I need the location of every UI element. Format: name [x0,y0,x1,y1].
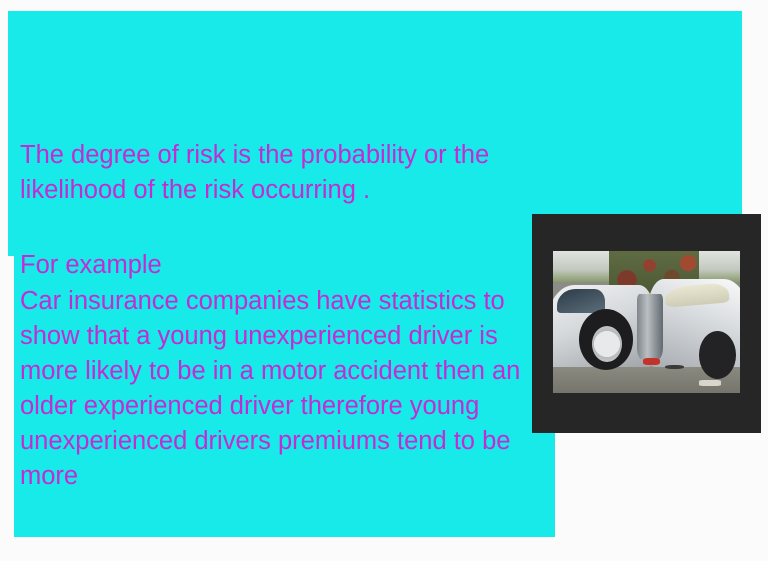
photo-wheel-right [699,331,736,379]
photo-debris-light [699,380,721,386]
example-paragraph: Car insurance companies have statistics … [20,284,545,494]
intro-paragraph: The degree of risk is the probability or… [20,138,540,208]
photo-debris-red [643,358,660,365]
slide-canvas: Risk The degree of risk is the probabili… [0,0,768,561]
photo-debris-dark [665,365,684,369]
example-heading: For example [20,248,540,283]
photo-crumple-zone [637,294,663,359]
photo-wheel-left-rim [592,326,622,362]
car-crash-photo [553,251,740,393]
image-frame [532,214,761,433]
